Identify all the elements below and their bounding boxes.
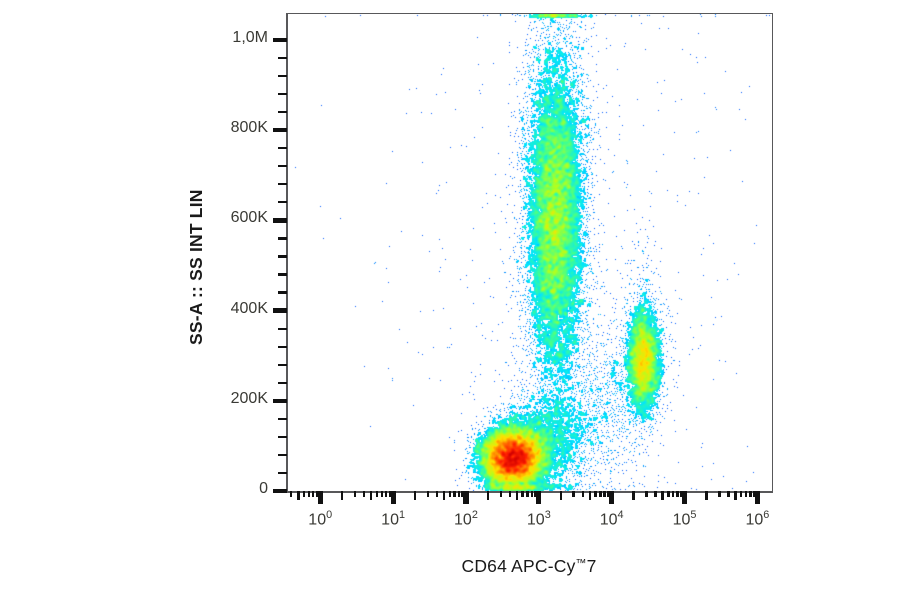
y-minor-tick (278, 382, 287, 384)
x-tick-mantissa: 10 (745, 512, 763, 529)
x-minor-tick (354, 491, 356, 497)
x-minor-tick (363, 491, 365, 497)
x-minor-tick (599, 491, 601, 497)
x-tick-mantissa: 10 (454, 512, 472, 529)
y-minor-tick (278, 328, 287, 330)
x-minor-tick (734, 491, 736, 500)
y-major-tick (273, 38, 287, 42)
y-tick-label: 600K (191, 209, 268, 227)
x-minor-tick (749, 491, 751, 497)
y-tick-label: 0 (191, 480, 268, 498)
x-minor-tick (436, 491, 438, 497)
x-minor-tick (461, 491, 463, 497)
x-minor-tick (589, 491, 591, 500)
y-tick-label: 200K (191, 390, 268, 408)
x-minor-tick (297, 491, 299, 500)
y-minor-tick (278, 454, 287, 456)
x-tick-mantissa: 10 (308, 512, 326, 529)
x-tick-label: 106 (717, 509, 797, 530)
y-major-tick (273, 218, 287, 222)
x-tick-exponent: 1 (399, 509, 405, 521)
y-major-tick (273, 489, 287, 493)
x-minor-tick (534, 491, 536, 497)
x-tick-exponent: 4 (618, 509, 624, 521)
x-minor-tick (414, 491, 416, 500)
y-minor-tick (278, 147, 287, 149)
x-minor-tick (290, 491, 292, 497)
x-tick-exponent: 6 (763, 509, 769, 521)
x-minor-tick (443, 491, 445, 500)
x-major-tick (391, 491, 396, 504)
x-minor-tick (303, 491, 305, 497)
x-minor-tick (661, 491, 663, 500)
x-minor-tick (676, 491, 678, 497)
y-minor-tick (278, 436, 287, 438)
x-minor-tick (370, 491, 372, 500)
y-major-tick (273, 399, 287, 403)
y-minor-tick (278, 346, 287, 348)
x-minor-tick (531, 491, 533, 497)
x-tick-exponent: 5 (690, 509, 696, 521)
x-minor-tick (509, 491, 511, 497)
x-minor-tick (449, 491, 451, 497)
flow-cytometry-figure: SS-A :: SS INT LIN CD64 APC-Cy™7 1,0M800… (0, 0, 900, 594)
x-tick-label: 103 (499, 509, 579, 530)
x-tick-exponent: 2 (472, 509, 478, 521)
plot-frame-right (772, 13, 773, 492)
y-minor-tick (278, 111, 287, 113)
y-minor-tick (278, 291, 287, 293)
x-major-tick (755, 491, 760, 504)
plot-frame-top (286, 13, 773, 14)
x-tick-label: 104 (572, 509, 652, 530)
x-minor-tick (516, 491, 518, 500)
x-minor-tick (632, 491, 634, 500)
y-minor-tick (278, 418, 287, 420)
x-minor-tick (727, 491, 729, 497)
x-major-tick (609, 491, 614, 504)
x-minor-tick (740, 491, 742, 497)
plot-frame-bottom (286, 491, 773, 493)
trademark-symbol: ™ (576, 557, 587, 569)
y-minor-tick (278, 237, 287, 239)
x-minor-tick (376, 491, 378, 497)
x-minor-tick (500, 491, 502, 497)
y-minor-tick (278, 364, 287, 366)
x-minor-tick (705, 491, 707, 500)
x-minor-tick (603, 491, 605, 497)
x-minor-tick (427, 491, 429, 497)
y-minor-tick (278, 255, 287, 257)
x-minor-tick (645, 491, 647, 497)
y-major-tick (273, 128, 287, 132)
x-axis-label-text: CD64 APC-Cy (461, 556, 575, 576)
x-axis-label-suffix: 7 (587, 556, 597, 576)
x-minor-tick (718, 491, 720, 497)
x-minor-tick (487, 491, 489, 500)
y-minor-tick (278, 75, 287, 77)
x-minor-tick (308, 491, 310, 497)
x-minor-tick (385, 491, 387, 497)
x-tick-label: 102 (426, 509, 506, 530)
x-major-tick (536, 491, 541, 504)
x-minor-tick (381, 491, 383, 497)
y-minor-tick (278, 93, 287, 95)
x-minor-tick (667, 491, 669, 497)
x-tick-label: 100 (280, 509, 360, 530)
x-tick-mantissa: 10 (381, 512, 399, 529)
x-minor-tick (572, 491, 574, 497)
x-axis-label: CD64 APC-Cy™7 (0, 556, 889, 577)
x-minor-tick (594, 491, 596, 497)
x-tick-mantissa: 10 (600, 512, 618, 529)
x-tick-exponent: 0 (326, 509, 332, 521)
y-minor-tick (278, 183, 287, 185)
y-minor-tick (278, 273, 287, 275)
x-minor-tick (389, 491, 391, 497)
x-tick-mantissa: 10 (673, 512, 691, 529)
y-major-tick (273, 308, 287, 312)
x-minor-tick (458, 491, 460, 497)
x-minor-tick (745, 491, 747, 497)
x-tick-label: 105 (645, 509, 725, 530)
x-minor-tick (341, 491, 343, 500)
y-tick-label: 800K (191, 119, 268, 137)
x-minor-tick (672, 491, 674, 497)
x-minor-tick (582, 491, 584, 497)
x-minor-tick (521, 491, 523, 497)
x-minor-tick (607, 491, 609, 497)
x-minor-tick (680, 491, 682, 497)
x-minor-tick (654, 491, 656, 497)
x-minor-tick (316, 491, 318, 497)
y-tick-label: 400K (191, 300, 268, 318)
y-minor-tick (278, 57, 287, 59)
x-major-tick (318, 491, 323, 504)
y-minor-tick (278, 201, 287, 203)
x-minor-tick (312, 491, 314, 497)
y-minor-tick (278, 472, 287, 474)
x-major-tick (682, 491, 687, 504)
x-minor-tick (453, 491, 455, 497)
x-major-tick (463, 491, 468, 504)
x-minor-tick (753, 491, 755, 497)
x-tick-label: 101 (353, 509, 433, 530)
x-minor-tick (560, 491, 562, 500)
density-scatter-plot (287, 14, 772, 491)
x-minor-tick (526, 491, 528, 497)
y-minor-tick (278, 165, 287, 167)
x-tick-exponent: 3 (545, 509, 551, 521)
x-tick-mantissa: 10 (527, 512, 545, 529)
y-tick-label: 1,0M (191, 29, 268, 47)
